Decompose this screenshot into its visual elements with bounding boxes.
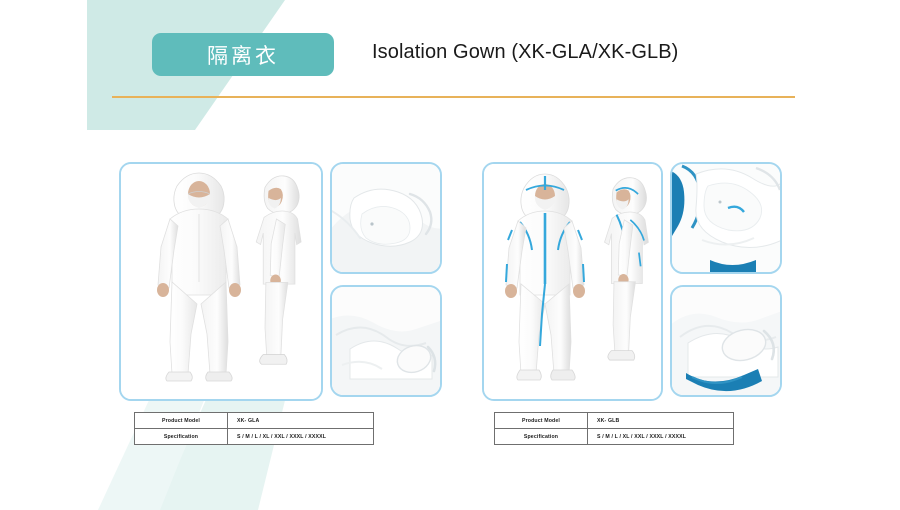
row-label: Specification [135, 429, 228, 445]
table-row: Specification S / M / L / XL / XXL / XXX… [135, 429, 374, 445]
page-title: Isolation Gown (XK-GLA/XK-GLB) [372, 41, 678, 64]
table-row: Product Model XK- GLA [135, 413, 374, 429]
table-row: Specification S / M / L / XL / XXL / XXX… [495, 429, 734, 445]
row-value: XK- GLB [588, 413, 734, 429]
product-thumb-glb-hood [670, 162, 782, 274]
row-label: Specification [495, 429, 588, 445]
slide-header: 隔离衣 Isolation Gown (XK-GLA/XK-GLB) [0, 0, 900, 105]
product-image-glb-main [482, 162, 663, 401]
spec-table-glb: Product Model XK- GLB Specification S / … [494, 412, 734, 445]
product-thumb-gla-cuff [330, 285, 442, 397]
gold-divider [112, 96, 795, 98]
product-thumb-gla-hood [330, 162, 442, 274]
row-value: XK- GLA [228, 413, 374, 429]
product-thumb-glb-boot [670, 285, 782, 397]
spec-table-gla: Product Model XK- GLA Specification S / … [134, 412, 374, 445]
row-label: Product Model [495, 413, 588, 429]
chinese-title-badge: 隔离衣 [152, 33, 334, 76]
slide-page: 隔离衣 Isolation Gown (XK-GLA/XK-GLB) [0, 0, 900, 510]
chinese-title-text: 隔离衣 [207, 40, 279, 70]
table-row: Product Model XK- GLB [495, 413, 734, 429]
row-value: S / M / L / XL / XXL / XXXL / XXXXL [588, 429, 734, 445]
product-image-gla-main [119, 162, 323, 401]
row-label: Product Model [135, 413, 228, 429]
row-value: S / M / L / XL / XXL / XXXL / XXXXL [228, 429, 374, 445]
